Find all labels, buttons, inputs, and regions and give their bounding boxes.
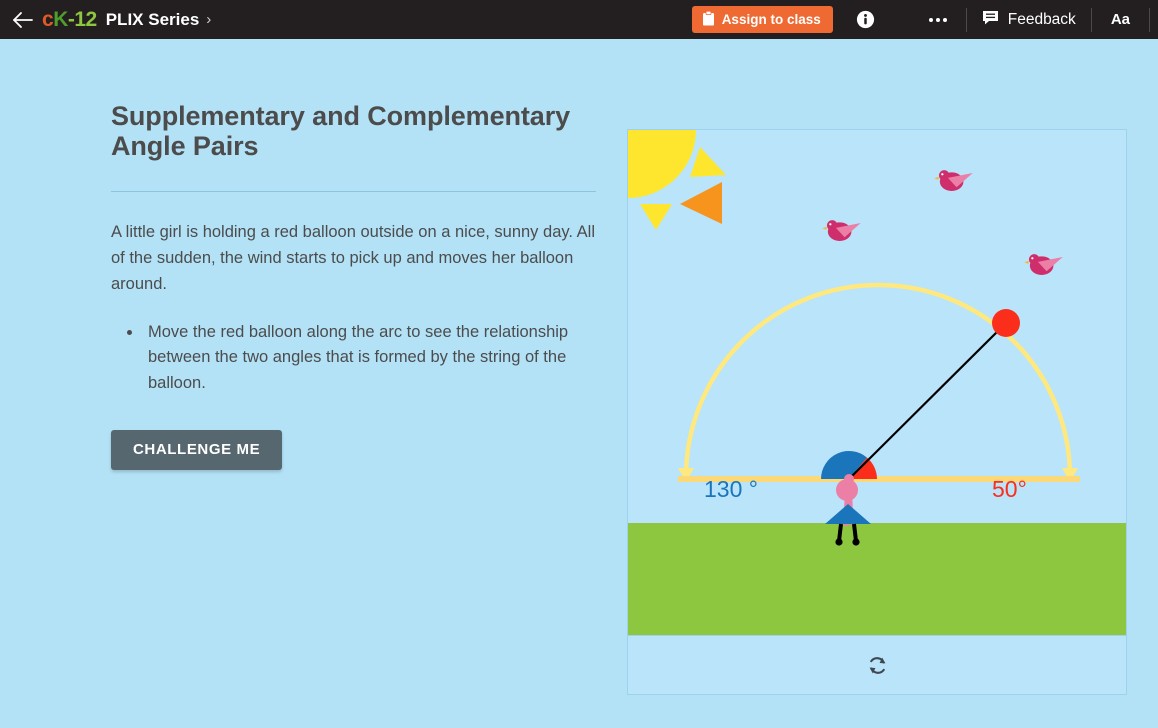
- clipboard-icon: [702, 11, 715, 29]
- more-options-icon[interactable]: [925, 12, 951, 28]
- divider-3: [1149, 8, 1150, 32]
- assign-to-class-button[interactable]: Assign to class: [692, 6, 833, 33]
- logo-part-12: -12: [68, 8, 97, 32]
- complementary-angle-label: 50°: [992, 476, 1027, 503]
- page-title: Supplementary and Complementary Angle Pa…: [111, 101, 598, 161]
- top-navigation-bar: cK-12 PLIX Series › Assign to class: [0, 0, 1158, 39]
- instruction-list: Move the red balloon along the arc to se…: [111, 320, 598, 397]
- divider-1: [966, 8, 967, 32]
- grass-background: [628, 523, 1126, 635]
- interactive-simulation-panel[interactable]: 130 ° 50°: [627, 129, 1127, 695]
- dot-1: [929, 18, 933, 22]
- dot-3: [943, 18, 947, 22]
- ck12-logo[interactable]: cK-12: [42, 8, 97, 32]
- lesson-paragraph: A little girl is holding a red balloon o…: [111, 220, 598, 297]
- list-item: Move the red balloon along the arc to se…: [143, 320, 598, 397]
- title-divider: [111, 191, 596, 192]
- red-balloon-handle[interactable]: [992, 309, 1020, 337]
- logo-part-c: c: [42, 8, 53, 32]
- supplementary-angle-label: 130 °: [704, 476, 758, 503]
- feedback-label: Feedback: [1008, 11, 1076, 29]
- divider-2: [1091, 8, 1092, 32]
- info-icon[interactable]: [855, 9, 877, 31]
- string-anchor-point: [844, 474, 854, 484]
- feedback-button[interactable]: Feedback: [982, 10, 1076, 30]
- simulation-footer: [628, 635, 1126, 695]
- simulation-stage[interactable]: 130 ° 50°: [628, 130, 1126, 635]
- assign-to-class-label: Assign to class: [722, 12, 821, 27]
- lesson-content-panel: Supplementary and Complementary Angle Pa…: [111, 101, 598, 470]
- speech-bubble-icon: [982, 10, 999, 30]
- back-arrow-icon[interactable]: [10, 7, 36, 33]
- dot-2: [936, 18, 940, 22]
- breadcrumb-title: PLIX Series: [106, 10, 200, 30]
- text-size-button[interactable]: Aa: [1107, 9, 1134, 30]
- challenge-me-button[interactable]: CHALLENGE ME: [111, 430, 282, 470]
- refresh-icon[interactable]: [862, 651, 892, 681]
- topbar-actions: Assign to class Feedback: [692, 0, 1158, 39]
- girl-foot-right: [852, 538, 859, 545]
- logo-part-k: K: [53, 8, 68, 32]
- angle-simulation-svg[interactable]: [628, 130, 1126, 635]
- chevron-right-icon: ›: [206, 11, 211, 28]
- girl-foot-left: [835, 538, 842, 545]
